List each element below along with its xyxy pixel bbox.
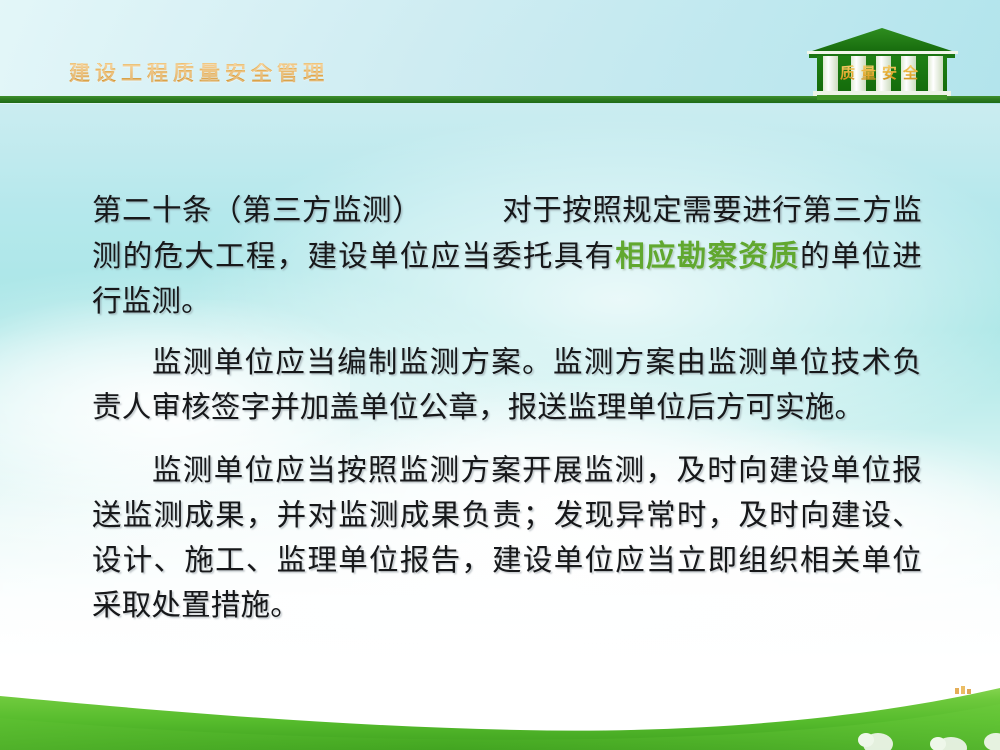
grass-field-decoration xyxy=(0,660,1000,750)
monitoring-execution-text: 监测单位应当按照监测方案开展监测，及时向建设单位报送监测成果，并对监测成果负责；… xyxy=(92,453,922,622)
paragraph-monitoring-plan: 监测单位应当编制监测方案。监测方案由监测单位技术负责人审核签字并加盖单位公章，报… xyxy=(92,340,922,430)
logo-slogan-text: 质量安全 xyxy=(840,64,924,82)
presentation-slide: 建设工程质量安全管理 xyxy=(0,0,1000,750)
logo-roof-pediment xyxy=(809,28,955,52)
slide-header: 建设工程质量安全管理 xyxy=(0,0,1000,104)
highlighted-qualification-text: 相应勘察资质 xyxy=(615,238,800,273)
logo-entablature-trim xyxy=(807,51,958,54)
paragraph-monitoring-execution: 监测单位应当按照监测方案开展监测，及时向建设单位报送监测成果，并对监测成果负责；… xyxy=(92,448,922,628)
logo-base-bottom xyxy=(817,95,947,100)
quality-safety-temple-logo: 质量安全 xyxy=(805,26,960,101)
slide-body-content: 第二十条（第三方监测） 对于按照规定需要进行第三方监测的危大工程，建设单位应当委… xyxy=(92,188,922,642)
article-20-heading: 第二十条（第三方监测） xyxy=(92,193,422,227)
page-title: 建设工程质量安全管理 xyxy=(69,63,329,84)
monitoring-plan-text: 监测单位应当编制监测方案。监测方案由监测单位技术负责人审核签字并加盖单位公章，报… xyxy=(92,345,922,424)
paragraph-article-20: 第二十条（第三方监测） 对于按照规定需要进行第三方监测的危大工程，建设单位应当委… xyxy=(92,188,922,324)
